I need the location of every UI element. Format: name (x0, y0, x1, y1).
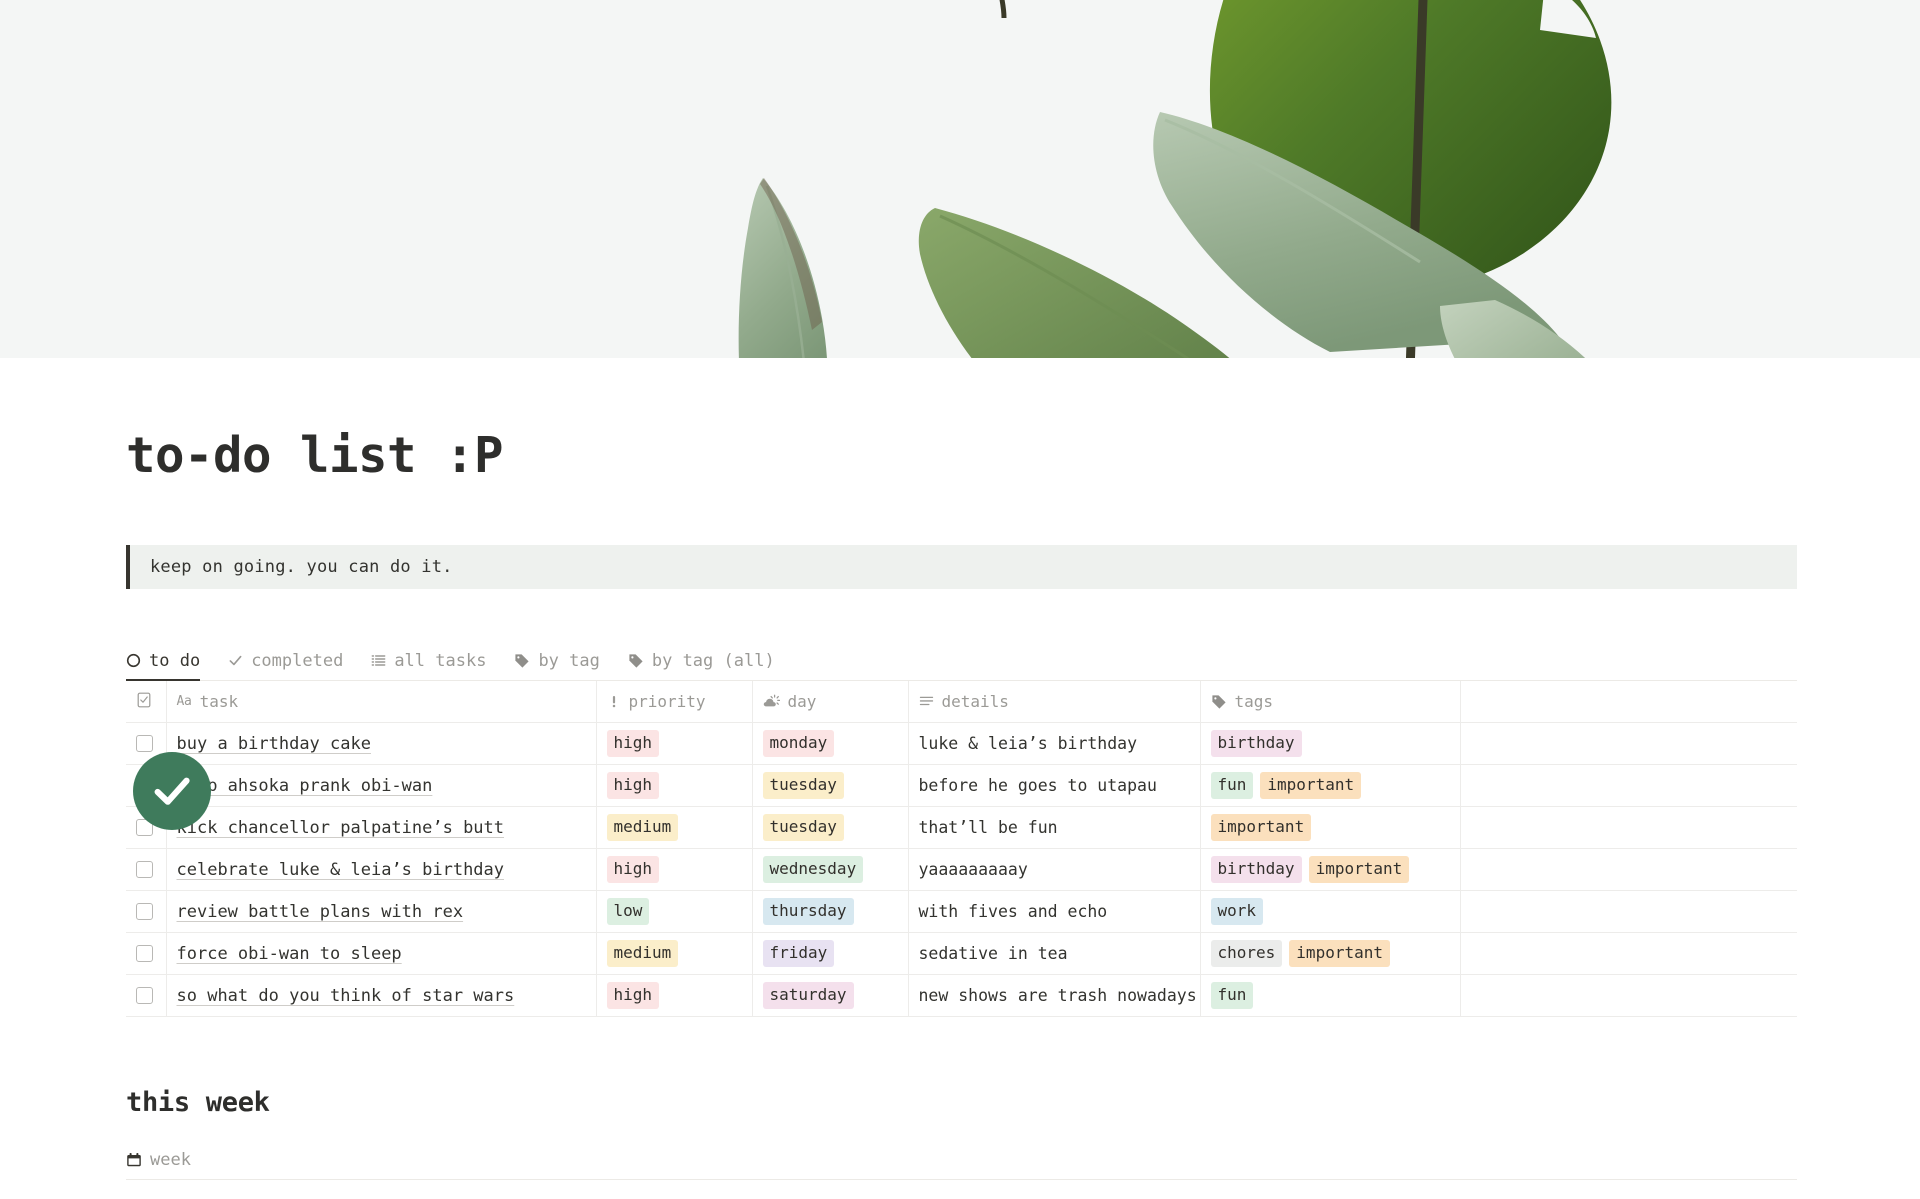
task-checkbox[interactable] (136, 861, 153, 878)
tags-wrapper: birthdayimportant (1211, 856, 1450, 883)
task-checkbox[interactable] (136, 987, 153, 1004)
tag-icon (514, 653, 530, 669)
task-cell[interactable]: kick chancellor palpatine’s butt (166, 807, 596, 849)
details-cell[interactable]: new shows are trash nowadays (908, 975, 1200, 1017)
todo-database: to do completed (126, 641, 1794, 1018)
day-cell[interactable]: wednesday (752, 849, 908, 891)
tag-pill: fun (1211, 982, 1254, 1009)
column-header-checkbox[interactable] (126, 681, 166, 723)
title-aa-icon: Aa (177, 694, 192, 709)
task-checkbox[interactable] (136, 735, 153, 752)
tab-to-do[interactable]: to do (126, 651, 200, 680)
tag-pill: work (1211, 898, 1264, 925)
tab-week[interactable]: week (126, 1150, 191, 1179)
tags-cell[interactable]: funimportant (1200, 765, 1460, 807)
tab-label: week (150, 1150, 191, 1170)
task-cell[interactable]: help ahsoka prank obi-wan (166, 765, 596, 807)
details-text: that’ll be fun (919, 818, 1058, 837)
column-label: day (788, 692, 817, 711)
details-cell[interactable]: with fives and echo (908, 891, 1200, 933)
task-cell[interactable]: force obi-wan to sleep (166, 933, 596, 975)
details-text: new shows are trash nowadays (919, 986, 1197, 1005)
empty-cell (1460, 891, 1797, 933)
tab-by-tag-all[interactable]: by tag (all) (628, 651, 775, 680)
table-row: review battle plans with rexlowthursdayw… (126, 891, 1797, 933)
tags-cell[interactable]: fun (1200, 975, 1460, 1017)
column-header-add[interactable] (1460, 681, 1797, 723)
tab-label: to do (149, 651, 200, 671)
partly-cloudy-icon (763, 694, 780, 709)
checkbox-icon (136, 693, 152, 712)
column-header-priority[interactable]: priority (596, 681, 752, 723)
priority-cell[interactable]: high (596, 723, 752, 765)
empty-cell (1460, 975, 1797, 1017)
details-text: sedative in tea (919, 944, 1068, 963)
empty-cell (1460, 723, 1797, 765)
tab-label: by tag (538, 651, 599, 671)
exclamation-icon (607, 694, 621, 709)
callout-text: keep on going. you can do it. (150, 557, 453, 577)
calendar-icon (126, 1152, 142, 1168)
tab-by-tag[interactable]: by tag (514, 651, 599, 680)
details-cell[interactable]: yaaaaaaaaay (908, 849, 1200, 891)
empty-cell (1460, 807, 1797, 849)
empty-cell (1460, 933, 1797, 975)
day-cell[interactable]: thursday (752, 891, 908, 933)
tag-pill: fun (1211, 772, 1254, 799)
day-pill: tuesday (763, 814, 844, 841)
details-cell[interactable]: luke & leia’s birthday (908, 723, 1200, 765)
column-label: details (942, 692, 1009, 711)
row-checkbox-cell[interactable] (126, 975, 166, 1017)
column-label: task (200, 692, 239, 711)
tags-wrapper: fun (1211, 982, 1450, 1009)
tag-pill: important (1211, 814, 1312, 841)
tab-label: completed (251, 651, 343, 671)
details-text: before he goes to utapau (919, 776, 1157, 795)
list-icon (371, 653, 386, 668)
task-title-link[interactable]: buy a birthday cake (177, 734, 371, 754)
task-title-link[interactable]: help ahsoka prank obi-wan (177, 776, 433, 796)
details-cell[interactable]: before he goes to utapau (908, 765, 1200, 807)
tags-wrapper: funimportant (1211, 772, 1450, 799)
table-row: force obi-wan to sleepmediumfridaysedati… (126, 933, 1797, 975)
tag-icon (628, 653, 644, 669)
task-checkbox[interactable] (136, 945, 153, 962)
task-title-link[interactable]: kick chancellor palpatine’s butt (177, 818, 505, 838)
column-label: priority (629, 692, 706, 711)
page-title: to-do list :P (126, 430, 1794, 483)
table-body: buy a birthday cakehighmondayluke & leia… (126, 723, 1797, 1017)
day-cell[interactable]: saturday (752, 975, 908, 1017)
week-view-tabs: week (126, 1140, 1797, 1180)
priority-pill: high (607, 982, 660, 1009)
task-cell[interactable]: celebrate luke & leia’s birthday (166, 849, 596, 891)
tags-cell[interactable]: birthday (1200, 723, 1460, 765)
tags-cell[interactable]: choresimportant (1200, 933, 1460, 975)
column-header-tags[interactable]: tags (1200, 681, 1460, 723)
circle-icon (126, 653, 141, 668)
empty-cell (1460, 849, 1797, 891)
priority-pill: low (607, 898, 650, 925)
tab-completed[interactable]: completed (228, 651, 343, 680)
text-lines-icon (919, 694, 934, 709)
tags-wrapper: work (1211, 898, 1450, 925)
column-header-task[interactable]: Aa task (166, 681, 596, 723)
tag-pill: birthday (1211, 730, 1302, 757)
priority-pill: high (607, 730, 660, 757)
day-pill: tuesday (763, 772, 844, 799)
database-view-tabs: to do completed (126, 641, 1797, 681)
details-text: luke & leia’s birthday (919, 734, 1138, 753)
task-title-link[interactable]: review battle plans with rex (177, 902, 464, 922)
tags-cell[interactable]: birthdayimportant (1200, 849, 1460, 891)
column-header-details[interactable]: details (908, 681, 1200, 723)
table-row: buy a birthday cakehighmondayluke & leia… (126, 723, 1797, 765)
day-pill: monday (763, 730, 835, 757)
details-text: yaaaaaaaaay (919, 860, 1028, 879)
callout-quote: keep on going. you can do it. (126, 545, 1797, 589)
table-row: help ahsoka prank obi-wanhightuesdaybefo… (126, 765, 1797, 807)
row-checkbox-cell[interactable] (126, 891, 166, 933)
table-header-row: Aa task (126, 681, 1797, 723)
page-icon[interactable] (133, 752, 211, 830)
column-header-day[interactable]: day (752, 681, 908, 723)
column-label: tags (1235, 692, 1274, 711)
tag-pill: chores (1211, 940, 1283, 967)
table-row: so what do you think of star warshighsat… (126, 975, 1797, 1017)
priority-cell[interactable]: medium (596, 933, 752, 975)
tag-pill: important (1309, 856, 1410, 883)
todo-table: Aa task (126, 681, 1797, 1018)
row-checkbox-cell[interactable] (126, 849, 166, 891)
table-row: celebrate luke & leia’s birthdayhighwedn… (126, 849, 1797, 891)
week-database: week (126, 1140, 1794, 1180)
priority-cell[interactable]: high (596, 849, 752, 891)
tag-pill: important (1289, 940, 1390, 967)
priority-cell[interactable]: low (596, 891, 752, 933)
table-row: kick chancellor palpatine’s buttmediumtu… (126, 807, 1797, 849)
tags-wrapper: choresimportant (1211, 940, 1450, 967)
tags-wrapper: important (1211, 814, 1450, 841)
task-cell[interactable]: so what do you think of star wars (166, 975, 596, 1017)
day-pill: saturday (763, 982, 854, 1009)
green-check-circle-icon (133, 752, 211, 830)
day-cell[interactable]: tuesday (752, 807, 908, 849)
details-cell[interactable]: sedative in tea (908, 933, 1200, 975)
check-icon (228, 653, 243, 668)
day-pill: friday (763, 940, 835, 967)
task-title-link[interactable]: celebrate luke & leia’s birthday (177, 860, 505, 880)
priority-pill: medium (607, 814, 679, 841)
day-pill: wednesday (763, 856, 864, 883)
task-title-link[interactable]: force obi-wan to sleep (177, 944, 402, 964)
priority-cell[interactable]: high (596, 975, 752, 1017)
priority-pill: medium (607, 940, 679, 967)
day-cell[interactable]: friday (752, 933, 908, 975)
section-heading-this-week: this week (126, 1087, 1794, 1118)
task-checkbox[interactable] (136, 903, 153, 920)
priority-cell[interactable]: medium (596, 807, 752, 849)
monstera-leaves-illustration (0, 0, 1920, 358)
day-cell[interactable]: tuesday (752, 765, 908, 807)
row-checkbox-cell[interactable] (126, 933, 166, 975)
tab-label: all tasks (394, 651, 486, 671)
tab-label: by tag (all) (652, 651, 775, 671)
priority-pill: high (607, 856, 660, 883)
tag-pill: birthday (1211, 856, 1302, 883)
page-cover-image (0, 0, 1920, 358)
task-title-link[interactable]: so what do you think of star wars (177, 986, 515, 1006)
priority-cell[interactable]: high (596, 765, 752, 807)
details-text: with fives and echo (919, 902, 1108, 921)
tags-wrapper: birthday (1211, 730, 1450, 757)
day-pill: thursday (763, 898, 854, 925)
tag-icon (1211, 694, 1227, 710)
task-cell[interactable]: review battle plans with rex (166, 891, 596, 933)
details-cell[interactable]: that’ll be fun (908, 807, 1200, 849)
tags-cell[interactable]: work (1200, 891, 1460, 933)
tag-pill: important (1260, 772, 1361, 799)
empty-cell (1460, 765, 1797, 807)
task-cell[interactable]: buy a birthday cake (166, 723, 596, 765)
tags-cell[interactable]: important (1200, 807, 1460, 849)
tab-all-tasks[interactable]: all tasks (371, 651, 486, 680)
priority-pill: high (607, 772, 660, 799)
day-cell[interactable]: monday (752, 723, 908, 765)
